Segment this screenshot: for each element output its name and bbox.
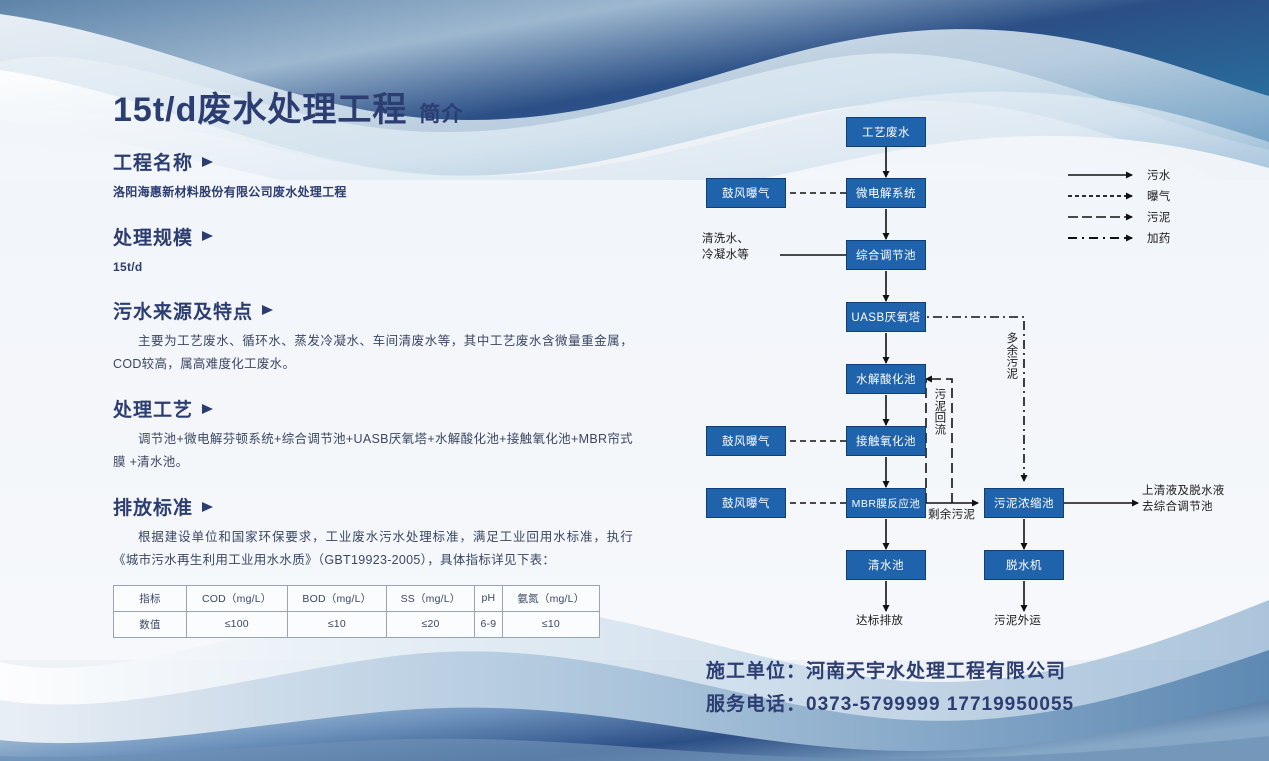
flow-label-residual-sludge: 剩余污泥 xyxy=(928,508,975,524)
section-source-characteristics: 污水来源及特点 主要为工艺废水、循环水、蒸发冷凝水、车间清废水等，其中工艺废水含… xyxy=(113,297,633,376)
table-row: 指标 COD（mg/L） BOD（mg/L） SS（mg/L） pH 氨氮（mg… xyxy=(114,585,600,611)
section-project-name: 工程名称 洛阳海惠新材料股份有限公司废水处理工程 xyxy=(113,148,633,203)
table-cell: 6-9 xyxy=(474,611,502,637)
legend-line-dash-dot-icon xyxy=(1068,232,1140,244)
table-cell: ≤10 xyxy=(287,611,387,637)
flow-label-wash-water-line1: 清洗水、 xyxy=(702,232,749,248)
table-cell: ≤10 xyxy=(502,611,599,637)
triangle-bullet-icon xyxy=(202,502,213,512)
table-cell: 指标 xyxy=(114,585,187,611)
legend-item-sewage: 污水 xyxy=(1068,164,1218,185)
table-cell: ≤20 xyxy=(387,611,475,637)
flow-box-uasb-tower[interactable]: UASB厌氧塔 xyxy=(846,302,926,332)
flow-box-process-wastewater[interactable]: 工艺废水 xyxy=(846,117,926,147)
legend-label: 污泥 xyxy=(1147,209,1171,225)
flow-box-blower-aeration-2[interactable]: 鼓风曝气 xyxy=(706,426,786,456)
flow-box-contact-oxidation[interactable]: 接触氧化池 xyxy=(846,426,926,456)
page-title-sub: 简介 xyxy=(419,103,463,126)
legend-label: 污水 xyxy=(1147,167,1171,183)
legend-label: 曝气 xyxy=(1147,188,1171,204)
section-heading: 污水来源及特点 xyxy=(113,297,633,324)
flow-label-standard-discharge: 达标排放 xyxy=(856,614,903,630)
flow-box-comprehensive-tank[interactable]: 综合调节池 xyxy=(846,240,926,270)
section-heading: 排放标准 xyxy=(113,493,633,520)
legend-line-long-dash-icon xyxy=(1068,211,1140,223)
triangle-bullet-icon xyxy=(262,305,273,315)
flow-label-wash-water-line2: 冷凝水等 xyxy=(702,248,749,264)
flow-label-supernatant-line2: 去综合调节池 xyxy=(1142,500,1225,516)
section-body: 调节池+微电解芬顿系统+综合调节池+UASB厌氧塔+水解酸化池+接触氧化池+MB… xyxy=(113,428,633,474)
flow-box-clear-water-tank[interactable]: 清水池 xyxy=(846,550,926,580)
flow-label-excess-sludge: 多余污泥 xyxy=(1004,332,1018,379)
flowchart-legend: 污水 曝气 污泥 加药 xyxy=(1068,164,1218,248)
section-heading-label: 污水来源及特点 xyxy=(113,297,253,324)
flow-box-sludge-thickener[interactable]: 污泥浓缩池 xyxy=(984,488,1064,518)
section-body: 主要为工艺废水、循环水、蒸发冷凝水、车间清废水等，其中工艺废水含微量重金属，CO… xyxy=(113,330,633,376)
table-cell: COD（mg/L） xyxy=(187,585,288,611)
section-heading-label: 处理规模 xyxy=(113,223,193,250)
section-treatment-scale: 处理规模 15t/d xyxy=(113,223,633,278)
section-heading: 工程名称 xyxy=(113,148,633,175)
footer-phone: 服务电话：0373-5799999 17719950055 xyxy=(706,688,1074,721)
table-cell: SS（mg/L） xyxy=(387,585,475,611)
flow-label-wash-water: 清洗水、 冷凝水等 xyxy=(702,232,749,263)
flow-label-sludge-return: 污泥回流 xyxy=(932,388,946,435)
legend-item-dosing: 加药 xyxy=(1068,227,1218,248)
section-body: 洛阳海惠新材料股份有限公司废水处理工程 xyxy=(113,181,633,203)
legend-item-aeration: 曝气 xyxy=(1068,185,1218,206)
section-discharge-standard: 排放标准 根据建设单位和国家环保要求，工业废水污水处理标准，满足工业回用水标准，… xyxy=(113,493,633,572)
flow-box-mbr-reactor[interactable]: MBR膜反应池 xyxy=(846,488,926,518)
table-cell: pH xyxy=(474,585,502,611)
left-content-column: 15t/d废水处理工程简介 工程名称 洛阳海惠新材料股份有限公司废水处理工程 处… xyxy=(113,92,633,638)
section-heading-label: 排放标准 xyxy=(113,493,193,520)
page-title-main: 15t/d废水处理工程 xyxy=(113,91,407,129)
flow-label-supernatant-line1: 上清液及脱水液 xyxy=(1142,484,1225,500)
legend-line-dashed-icon xyxy=(1068,190,1140,202)
section-body: 根据建设单位和国家环保要求，工业废水污水处理标准，满足工业回用水标准，执行《城市… xyxy=(113,526,633,572)
flow-label-supernatant: 上清液及脱水液 去综合调节池 xyxy=(1142,484,1225,515)
legend-item-sludge: 污泥 xyxy=(1068,206,1218,227)
triangle-bullet-icon xyxy=(202,231,213,241)
table-row: 数值 ≤100 ≤10 ≤20 6-9 ≤10 xyxy=(114,611,600,637)
flow-box-hydrolysis-tank[interactable]: 水解酸化池 xyxy=(846,364,926,394)
flow-box-blower-aeration-1[interactable]: 鼓风曝气 xyxy=(706,178,786,208)
section-body: 15t/d xyxy=(113,256,633,278)
section-heading-label: 处理工艺 xyxy=(113,395,193,422)
table-cell: ≤100 xyxy=(187,611,288,637)
flow-box-micro-electrolysis[interactable]: 微电解系统 xyxy=(846,178,926,208)
flow-label-sludge-transport: 污泥外运 xyxy=(994,614,1041,630)
spec-table: 指标 COD（mg/L） BOD（mg/L） SS（mg/L） pH 氨氮（mg… xyxy=(113,585,600,638)
section-heading: 处理规模 xyxy=(113,223,633,250)
page-title: 15t/d废水处理工程简介 xyxy=(113,92,633,129)
footer-contact: 施工单位：河南天宇水处理工程有限公司 服务电话：0373-5799999 177… xyxy=(706,655,1074,722)
table-cell: 数值 xyxy=(114,611,187,637)
table-cell: BOD（mg/L） xyxy=(287,585,387,611)
section-treatment-process: 处理工艺 调节池+微电解芬顿系统+综合调节池+UASB厌氧塔+水解酸化池+接触氧… xyxy=(113,395,633,474)
poster-page: 15t/d废水处理工程简介 工程名称 洛阳海惠新材料股份有限公司废水处理工程 处… xyxy=(0,0,1269,761)
legend-label: 加药 xyxy=(1147,230,1171,246)
section-heading: 处理工艺 xyxy=(113,395,633,422)
flow-box-dewatering-machine[interactable]: 脱水机 xyxy=(984,550,1064,580)
triangle-bullet-icon xyxy=(202,404,213,414)
section-heading-label: 工程名称 xyxy=(113,148,193,175)
table-cell: 氨氮（mg/L） xyxy=(502,585,599,611)
triangle-bullet-icon xyxy=(202,157,213,167)
footer-company: 施工单位：河南天宇水处理工程有限公司 xyxy=(706,655,1074,688)
legend-line-solid-icon xyxy=(1068,169,1140,181)
flow-box-blower-aeration-3[interactable]: 鼓风曝气 xyxy=(706,488,786,518)
